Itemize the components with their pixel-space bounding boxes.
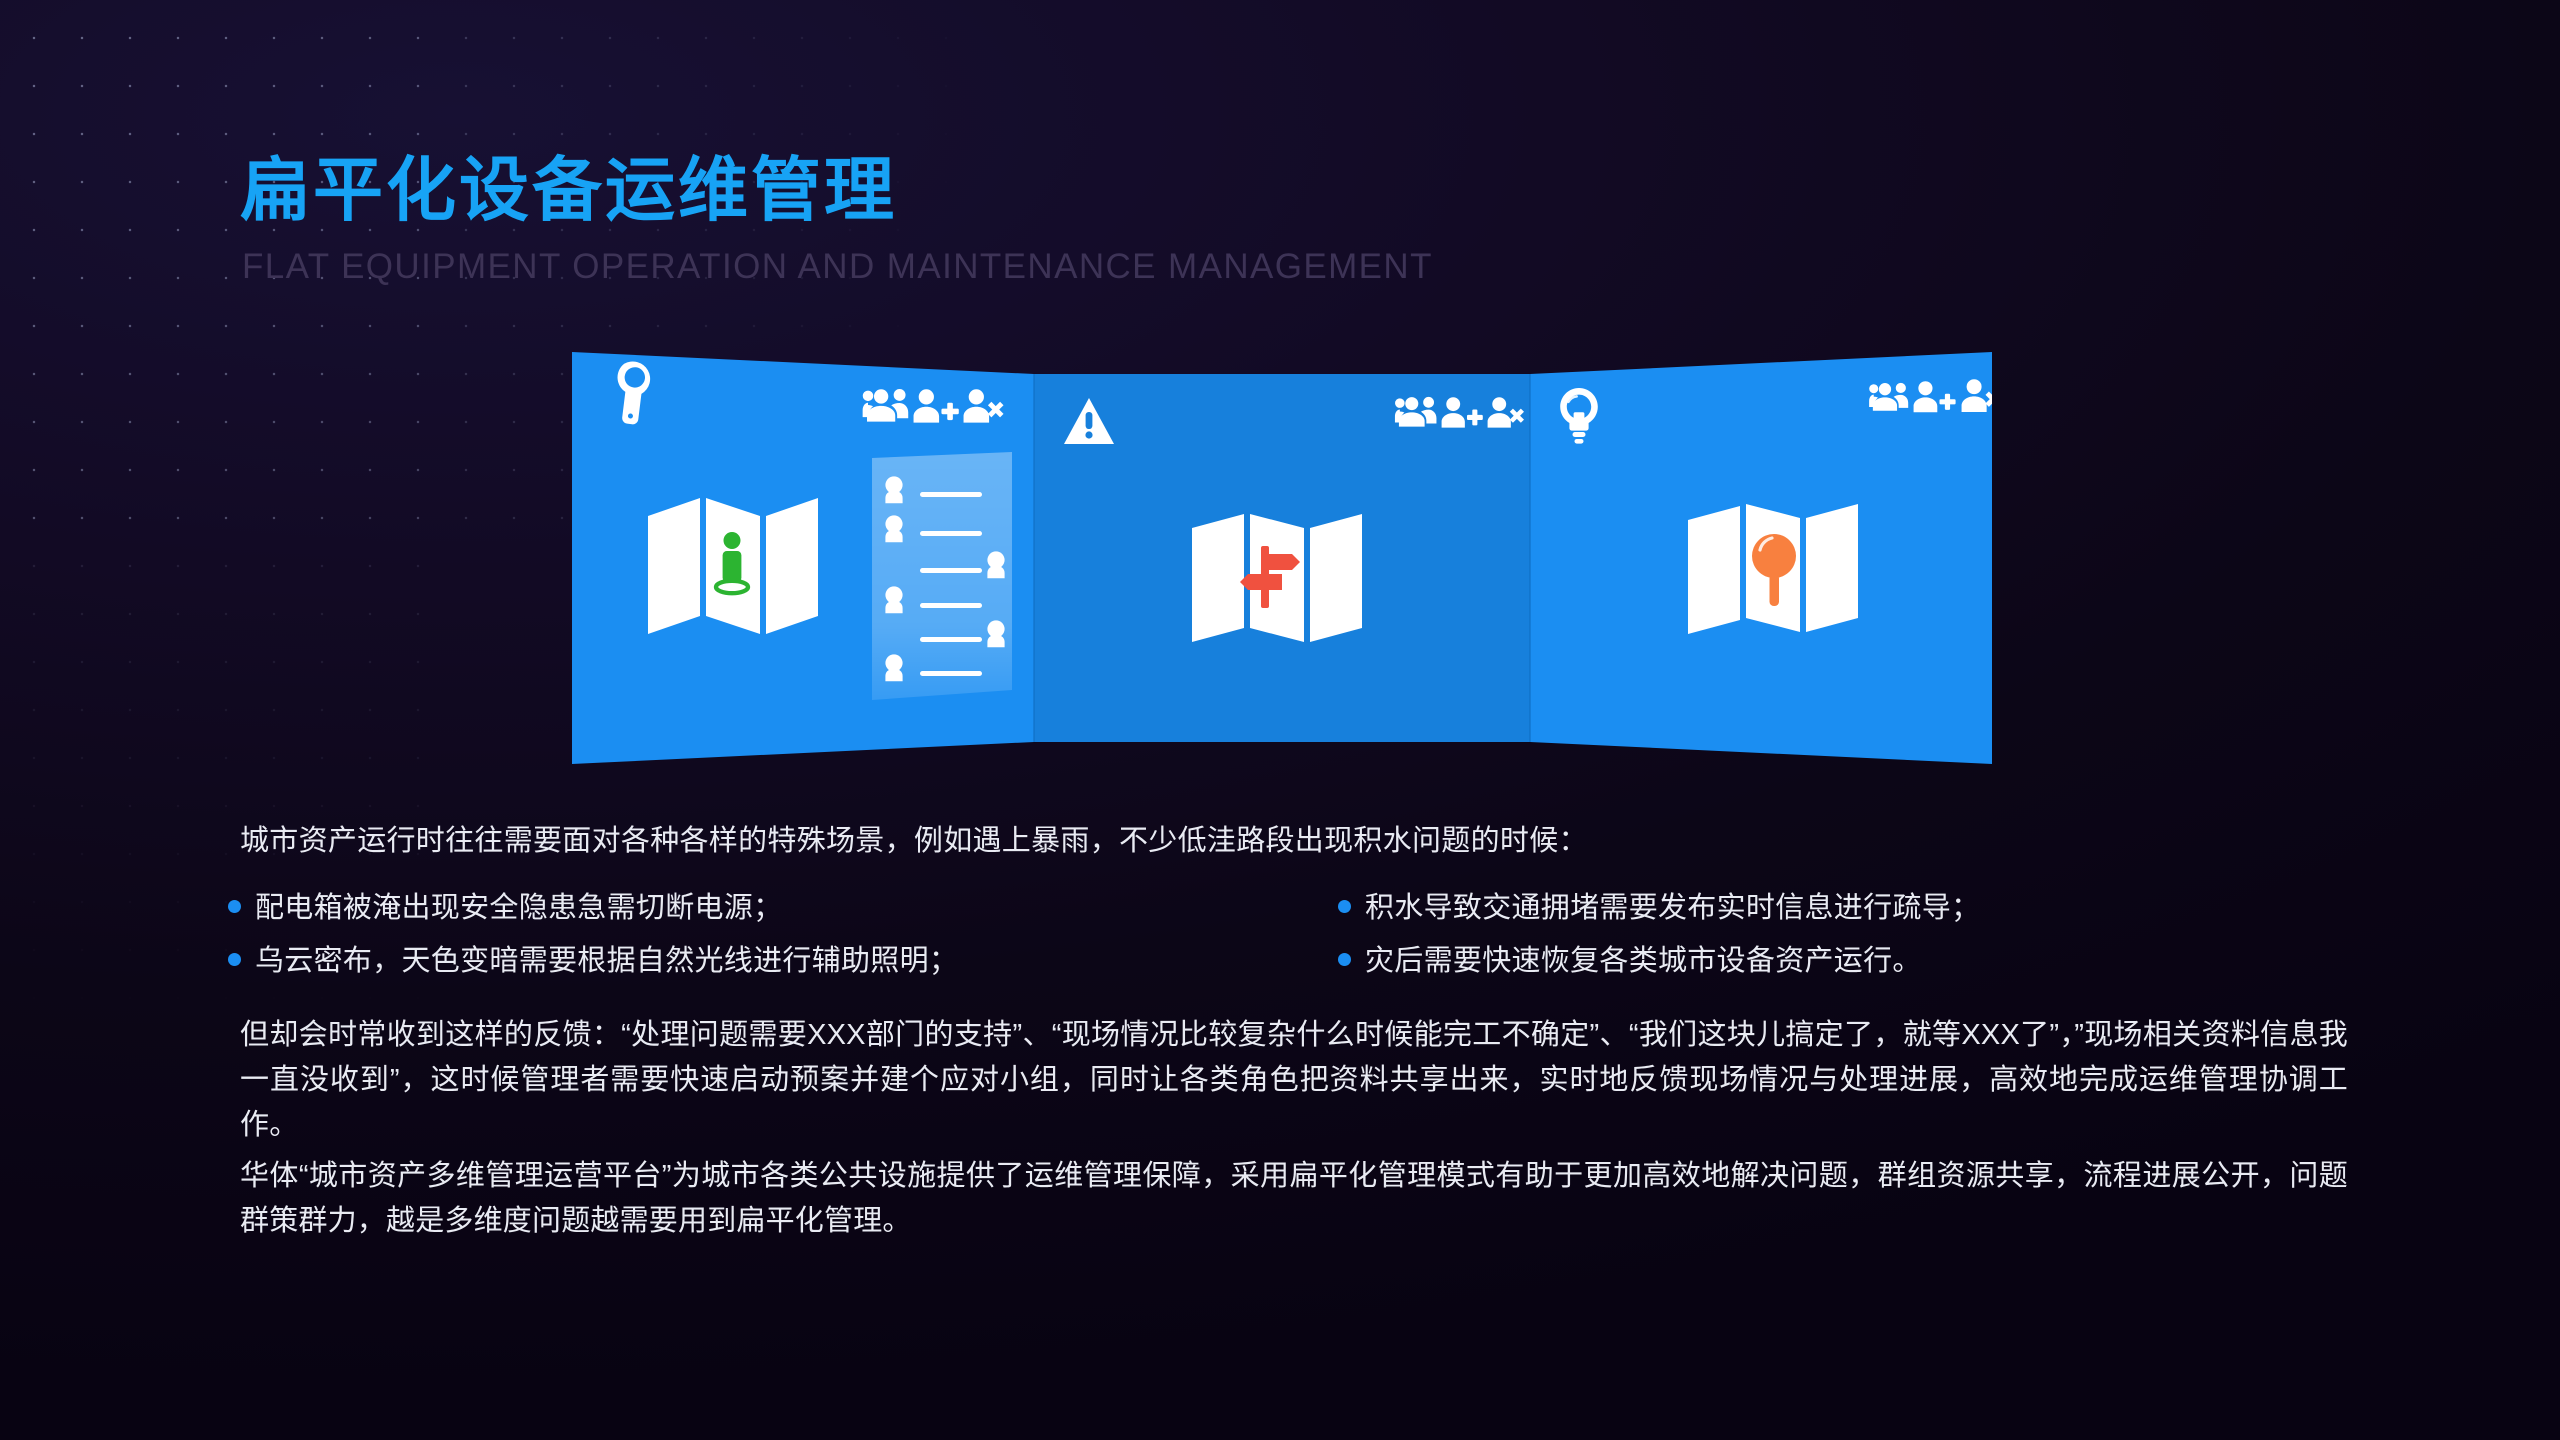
map-person-marker-graphic (648, 498, 818, 634)
intro-paragraph: 城市资产运行时往往需要面对各种各样的特殊场景，例如遇上暴雨，不少低洼路段出现积水… (240, 820, 2348, 862)
map-magnifier-graphic (1688, 504, 1858, 634)
page-subtitle: FLAT EQUIPMENT OPERATION AND MAINTENANCE… (242, 247, 1433, 287)
member-list-panel (872, 452, 1012, 700)
list-item: 乌云密布，天色变暗需要根据自然光线进行辅助照明； (228, 941, 1318, 982)
body-copy: 城市资产运行时往往需要面对各种各样的特殊场景，例如遇上暴雨，不少低洼路段出现积水… (228, 820, 2348, 1244)
bullet-text: 灾后需要快速恢复各类城市设备资产运行。 (1365, 941, 1922, 982)
page-title: 扁平化设备运维管理 (240, 155, 1433, 225)
bullet-dot-icon (1338, 953, 1351, 966)
list-item: 配电箱被淹出现安全隐患急需切断电源； (228, 888, 1318, 929)
bullet-text: 乌云密布，天色变暗需要根据自然光线进行辅助照明； (255, 941, 958, 982)
three-panel-banner-graphic (572, 352, 1992, 764)
body-paragraph-1: 但却会时常收到这样的反馈：“处理问题需要XXX部门的支持”、“现场情况比较复杂什… (240, 1013, 2348, 1148)
bullet-dot-icon (228, 953, 241, 966)
list-item: 灾后需要快速恢复各类城市设备资产运行。 (1338, 941, 2348, 982)
heading-block: 扁平化设备运维管理 FLAT EQUIPMENT OPERATION AND M… (240, 155, 1433, 287)
bullet-dot-icon (228, 900, 241, 913)
body-paragraph-2: 华体“城市资产多维管理运营平台”为城市各类公共设施提供了运维管理保障，采用扁平化… (240, 1154, 2348, 1244)
map-signpost-graphic (1192, 514, 1362, 642)
bullet-text: 积水导致交通拥堵需要发布实时信息进行疏导； (1365, 888, 1980, 929)
bullet-text: 配电箱被淹出现安全隐患急需切断电源； (255, 888, 782, 929)
bullet-dot-icon (1338, 900, 1351, 913)
list-item: 积水导致交通拥堵需要发布实时信息进行疏导； (1338, 888, 2348, 929)
bullet-list: 配电箱被淹出现安全隐患急需切断电源； 积水导致交通拥堵需要发布实时信息进行疏导；… (228, 888, 2348, 981)
